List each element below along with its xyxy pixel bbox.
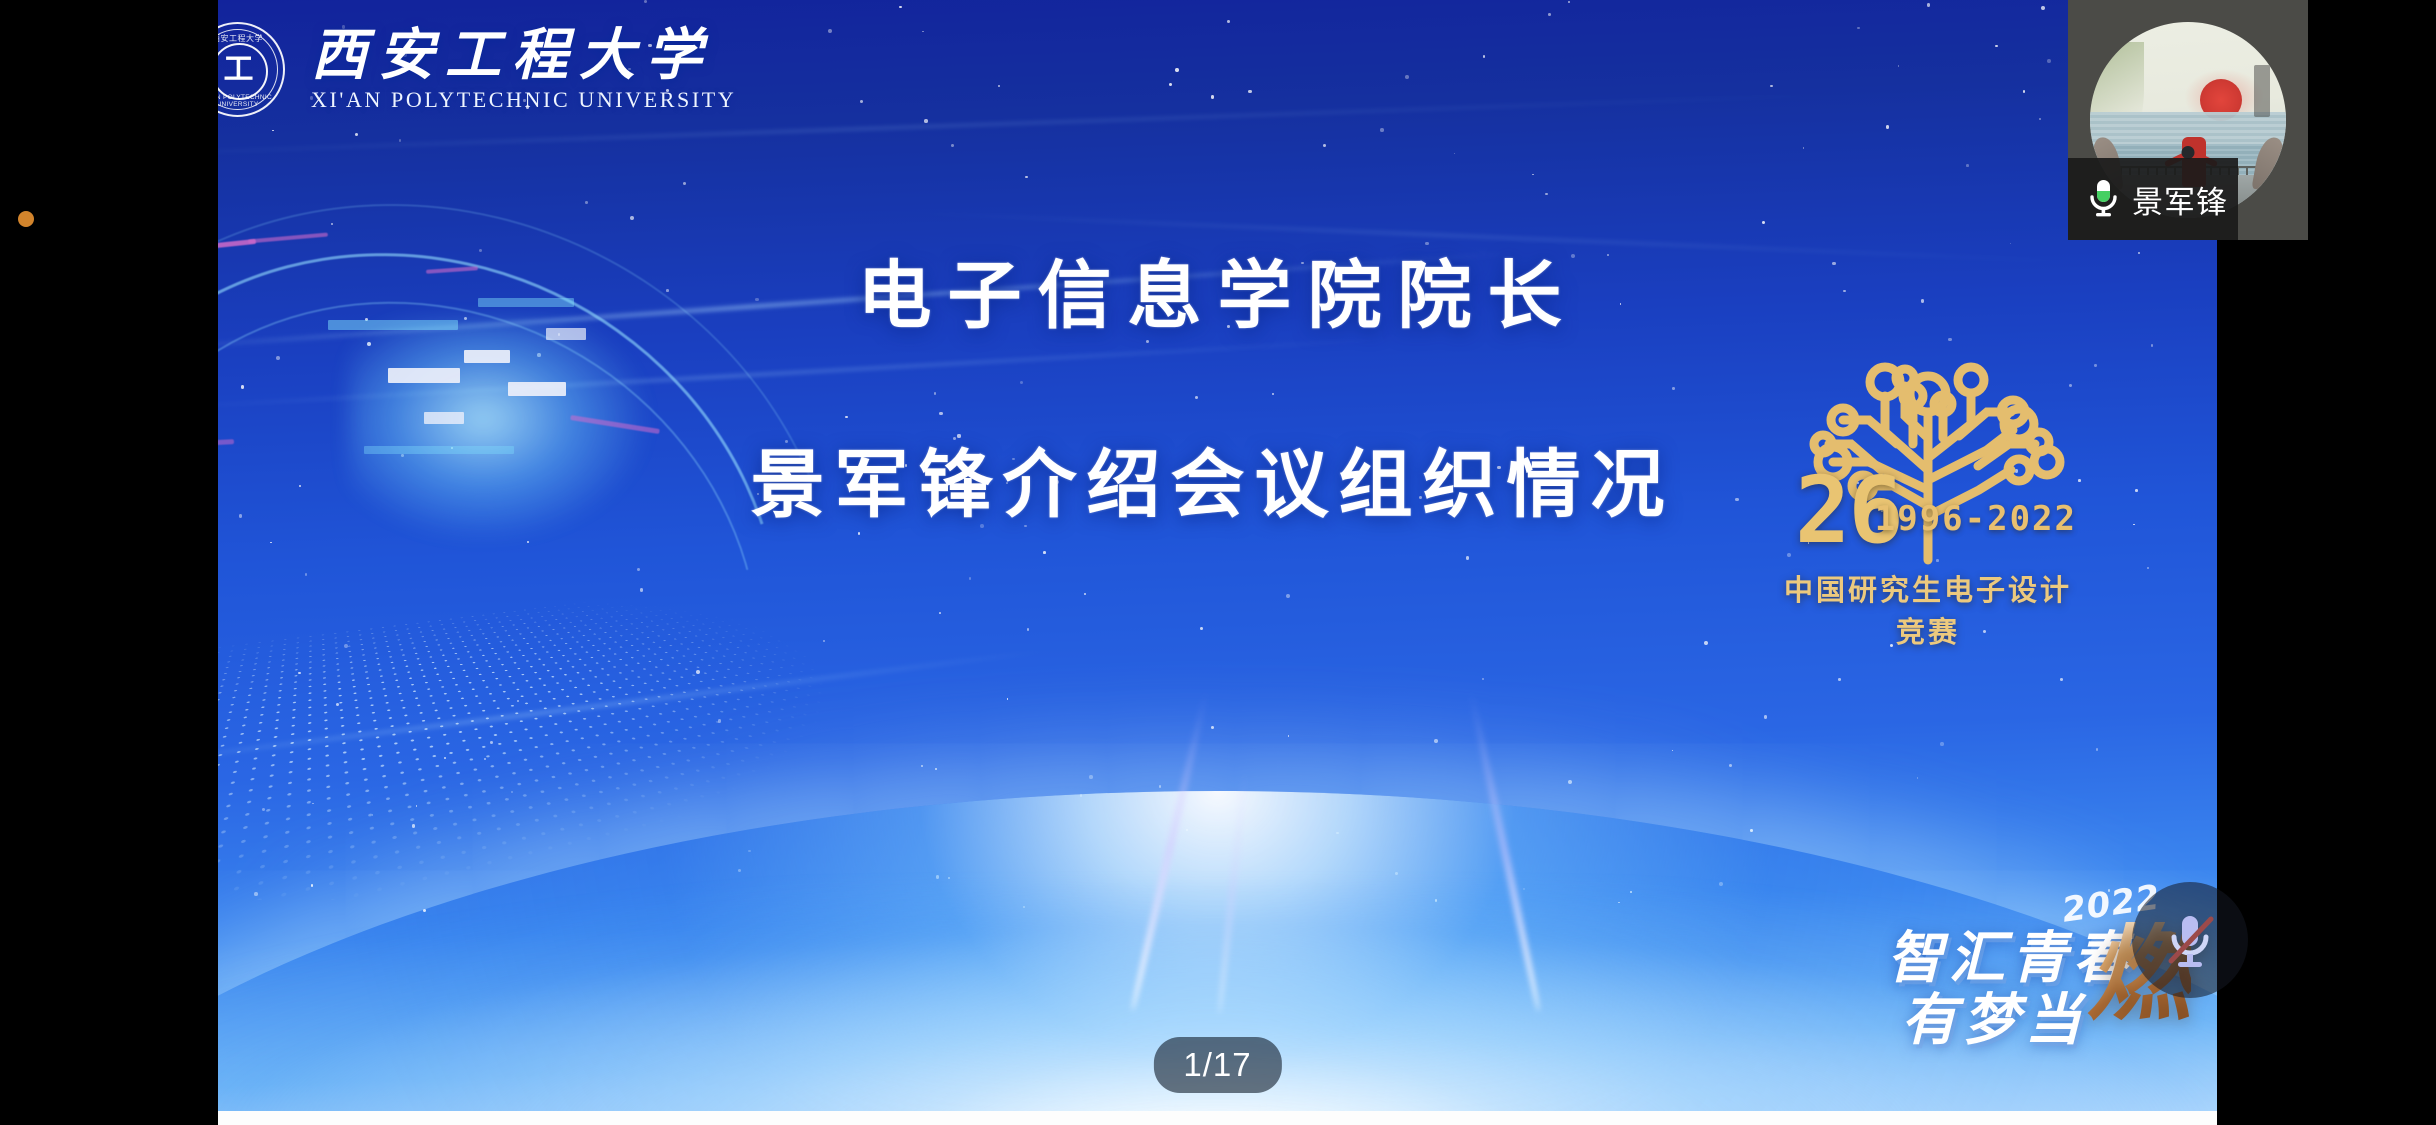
- meeting-screen: 西安工程大学 工 XI'AN POLYTECHNIC UNIVERSITY 西安…: [0, 0, 2436, 1125]
- contest-emblem: 26 1996-2022 中国研究生电子设计竞赛: [1773, 320, 2083, 651]
- contest-name-cn: 中国研究生电子设计竞赛: [1773, 567, 2083, 651]
- light-sweep: [218, 648, 1054, 770]
- university-name-cn: 西安工程大学: [311, 26, 736, 85]
- participant-thumbnail[interactable]: 景军锋: [2068, 0, 2308, 240]
- mute-microphone-button[interactable]: [2132, 882, 2248, 998]
- slide-title-block: 电子信息学院院长 景军锋介绍会议组织情况: [218, 236, 2217, 532]
- slide-title-line-2: 景军锋介绍会议组织情况: [218, 425, 2217, 532]
- light-sweep: [218, 251, 1516, 353]
- mic-muted-icon: [2154, 904, 2226, 976]
- microphone-active-icon: [2086, 177, 2120, 221]
- university-header: 西安工程大学 工 XI'AN POLYTECHNIC UNIVERSITY 西安…: [218, 22, 736, 117]
- slide-canvas: 西安工程大学 工 XI'AN POLYTECHNIC UNIVERSITY 西安…: [218, 0, 2217, 1111]
- slide-bottom-strip: [218, 1111, 2217, 1125]
- seal-bottom-text: XI'AN POLYTECHNIC UNIVERSITY: [218, 94, 283, 108]
- circuit-tree-icon: 26 1996-2022: [1773, 320, 2083, 565]
- light-sweep: [898, 211, 2096, 264]
- tech-mesh-graphic: [218, 200, 938, 900]
- status-indicator-dot: [18, 211, 34, 227]
- anniversary-number: 26: [1795, 465, 1902, 557]
- university-name-en: XI'AN POLYTECHNIC UNIVERSITY: [311, 87, 736, 113]
- seal-top-text: 西安工程大学: [218, 33, 283, 44]
- participant-name: 景军锋: [2132, 177, 2228, 222]
- slide-title-line-1: 电子信息学院院长: [218, 236, 2217, 343]
- light-sweep: [218, 337, 1397, 409]
- university-seal-icon: 西安工程大学 工 XI'AN POLYTECHNIC UNIVERSITY: [218, 22, 285, 117]
- page-indicator: 1/17: [1153, 1037, 1281, 1093]
- participant-footer: 景军锋: [2068, 158, 2238, 240]
- contest-year-range: 1996-2022: [1875, 499, 2077, 539]
- shared-screen-slide[interactable]: 西安工程大学 工 XI'AN POLYTECHNIC UNIVERSITY 西安…: [218, 0, 2217, 1125]
- university-name-block: 西安工程大学 XI'AN POLYTECHNIC UNIVERSITY: [311, 26, 736, 113]
- seal-glyph: 工: [224, 55, 252, 85]
